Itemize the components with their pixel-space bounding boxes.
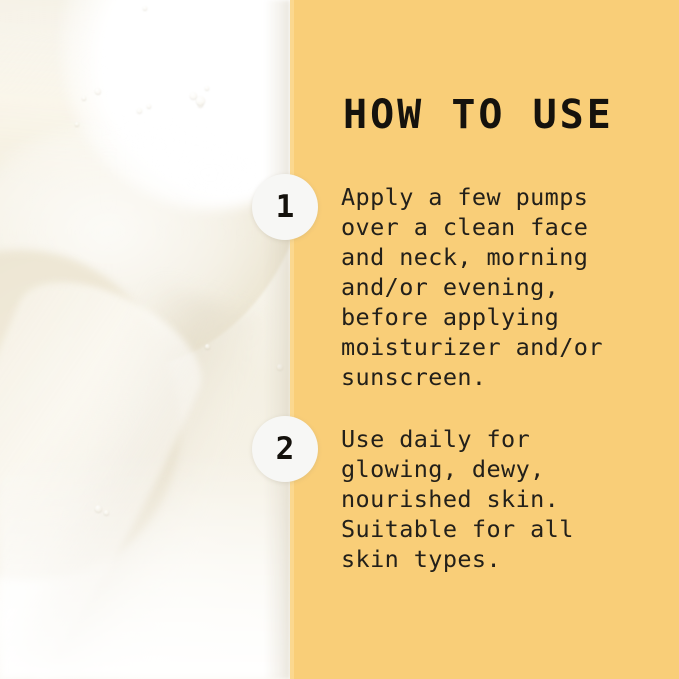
cream-bubble — [95, 505, 102, 512]
cream-bubble — [196, 96, 205, 105]
cream-bubble — [137, 108, 142, 113]
cream-bubble — [104, 510, 109, 515]
step-badge-1: 1 — [252, 174, 318, 240]
photo-bottom-wash — [0, 449, 290, 679]
panel-left-edge — [290, 0, 294, 679]
cream-bubble — [143, 6, 147, 10]
cream-bubble — [205, 344, 210, 349]
product-texture-photo — [0, 0, 290, 679]
cream-bubble — [75, 122, 79, 126]
step-badge-2: 2 — [252, 416, 318, 482]
how-to-use-graphic: HOW TO USE 1 Apply a few pumps over a cl… — [0, 0, 679, 679]
cream-bubble — [147, 104, 151, 108]
step-text-1: Apply a few pumps over a clean face and … — [341, 182, 671, 392]
cream-bubble — [95, 88, 101, 94]
cream-bubble — [205, 86, 209, 90]
cream-bubble — [82, 96, 86, 100]
page-title: HOW TO USE — [343, 95, 614, 135]
photo-edge-shadow — [264, 0, 290, 679]
step-text-2: Use daily for glowing, dewy, nourished s… — [341, 424, 671, 574]
